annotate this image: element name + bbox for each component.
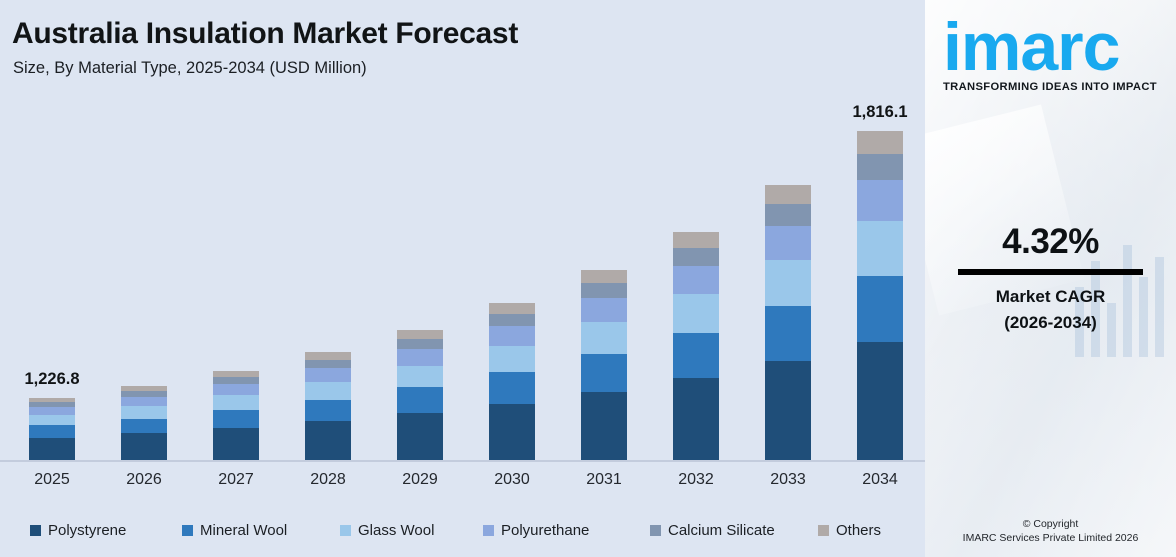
bar-segment[interactable] [673,248,719,266]
bar-segment[interactable] [305,352,351,360]
bar-segment[interactable] [305,421,351,460]
bar-segment[interactable] [213,428,259,460]
legend-label: Glass Wool [358,522,434,539]
x-axis-tick-2029: 2029 [374,471,466,489]
bar-segment[interactable] [213,410,259,428]
bar-column[interactable]: 1,226.8 [6,95,98,460]
legend-swatch-icon [182,525,193,536]
cagr-block: 4.32% Market CAGR (2026-2034) [925,222,1176,335]
copyright-line-1: © Copyright [925,517,1176,531]
bar-stack[interactable] [397,330,443,460]
bar-segment[interactable] [397,330,443,339]
imarc-logo: imarc TRANSFORMING IDEAS INTO IMPACT [943,16,1161,93]
x-axis-tick-2032: 2032 [650,471,742,489]
x-axis-tick-2030: 2030 [466,471,558,489]
legend-swatch-icon [30,525,41,536]
bar-segment[interactable] [397,387,443,413]
legend-label: Polyurethane [501,522,589,539]
bar-segment[interactable] [857,154,903,180]
bar-segment[interactable] [765,185,811,204]
cagr-value: 4.32% [925,222,1176,262]
bar-segment[interactable] [305,368,351,382]
bar-segment[interactable] [397,413,443,460]
chart-screenshot: Australia Insulation Market Forecast Siz… [0,0,1176,557]
bar-segment[interactable] [305,382,351,400]
logo-wordmark: imarc [943,16,1161,79]
bar-segment[interactable] [121,406,167,418]
copyright-notice: © Copyright IMARC Services Private Limit… [925,517,1176,545]
legend-label: Others [836,522,881,539]
chart-legend: PolystyreneMineral WoolGlass WoolPolyure… [0,515,925,545]
bar-column[interactable] [466,95,558,460]
bar-column[interactable] [98,95,190,460]
legend-label: Mineral Wool [200,522,287,539]
bar-value-label: 1,816.1 [852,103,907,122]
bar-segment[interactable] [489,326,535,346]
bar-column[interactable] [282,95,374,460]
bar-column[interactable] [742,95,834,460]
bar-segment[interactable] [489,303,535,314]
bar-segment[interactable] [857,131,903,154]
bar-segment[interactable] [489,372,535,403]
copyright-line-2: IMARC Services Private Limited 2026 [925,531,1176,545]
bar-stack[interactable] [29,398,75,460]
bar-segment[interactable] [765,306,811,361]
stacked-bar-plot: 1,226.81,816.1 [0,95,925,460]
legend-item-polyurethane[interactable]: Polyurethane [483,522,589,539]
bar-segment[interactable] [673,294,719,332]
bar-segment[interactable] [857,180,903,221]
bar-column[interactable] [650,95,742,460]
x-axis-tick-2027: 2027 [190,471,282,489]
bar-segment[interactable] [765,204,811,226]
x-axis-tick-2031: 2031 [558,471,650,489]
bar-stack[interactable] [673,232,719,460]
bar-value-label: 1,226.8 [24,370,79,389]
x-axis-labels: 2025202620272028202920302031203220332034 [0,463,925,497]
bar-segment[interactable] [581,270,627,283]
bar-stack[interactable] [581,270,627,460]
x-axis-tick-2025: 2025 [6,471,98,489]
page-subtitle: Size, By Material Type, 2025-2034 (USD M… [13,59,367,78]
bar-column[interactable] [558,95,650,460]
bar-stack[interactable] [213,371,259,460]
bar-segment[interactable] [489,346,535,372]
bar-segment[interactable] [29,407,75,415]
legend-swatch-icon [650,525,661,536]
bar-segment[interactable] [213,395,259,410]
legend-item-mineral-wool[interactable]: Mineral Wool [182,522,287,539]
bar-segment[interactable] [581,322,627,354]
legend-label: Calcium Silicate [668,522,775,539]
bar-segment[interactable] [765,260,811,306]
legend-label: Polystyrene [48,522,126,539]
legend-swatch-icon [818,525,829,536]
chart-panel: Australia Insulation Market Forecast Siz… [0,0,925,557]
legend-item-glass-wool[interactable]: Glass Wool [340,522,434,539]
bar-segment[interactable] [857,221,903,276]
bar-segment[interactable] [857,276,903,342]
bar-stack[interactable] [305,352,351,460]
cagr-divider [958,269,1143,275]
x-axis-line [0,460,925,462]
bar-segment[interactable] [121,397,167,406]
bar-segment[interactable] [213,377,259,384]
legend-item-others[interactable]: Others [818,522,881,539]
bar-segment[interactable] [29,438,75,460]
x-axis-tick-2028: 2028 [282,471,374,489]
bar-column[interactable]: 1,816.1 [834,95,926,460]
bar-segment[interactable] [213,384,259,395]
legend-swatch-icon [340,525,351,536]
bar-segment[interactable] [397,366,443,388]
bar-segment[interactable] [29,425,75,437]
x-axis-tick-2033: 2033 [742,471,834,489]
bar-segment[interactable] [29,415,75,425]
bar-stack[interactable] [857,131,903,460]
cagr-period: (2026-2034) [925,310,1176,336]
bar-segment[interactable] [121,433,167,460]
bar-stack[interactable] [489,303,535,460]
bar-segment[interactable] [581,298,627,322]
bar-segment[interactable] [489,314,535,326]
bar-segment[interactable] [581,392,627,460]
bar-segment[interactable] [305,360,351,369]
bar-segment[interactable] [581,283,627,298]
cagr-label: Market CAGR [925,284,1176,310]
bar-stack[interactable] [121,386,167,460]
bar-stack[interactable] [765,185,811,460]
bar-segment[interactable] [121,419,167,434]
bar-segment[interactable] [581,354,627,392]
bar-column[interactable] [190,95,282,460]
bar-segment[interactable] [765,226,811,260]
legend-item-polystyrene[interactable]: Polystyrene [30,522,126,539]
legend-swatch-icon [483,525,494,536]
bar-segment[interactable] [673,266,719,295]
bar-segment[interactable] [305,400,351,422]
bar-segment[interactable] [397,339,443,349]
x-axis-tick-2034: 2034 [834,471,926,489]
bar-segment[interactable] [673,232,719,248]
bar-column[interactable] [374,95,466,460]
logo-tagline: TRANSFORMING IDEAS INTO IMPACT [943,81,1161,93]
bar-segment[interactable] [857,342,903,460]
page-title: Australia Insulation Market Forecast [12,17,518,51]
bar-segment[interactable] [397,349,443,365]
bar-segment[interactable] [765,361,811,460]
brand-panel: imarc TRANSFORMING IDEAS INTO IMPACT 4.3… [925,0,1176,557]
legend-item-calcium-silicate[interactable]: Calcium Silicate [650,522,775,539]
bar-segment[interactable] [673,378,719,460]
bar-segment[interactable] [489,404,535,460]
x-axis-tick-2026: 2026 [98,471,190,489]
bar-segment[interactable] [673,333,719,379]
